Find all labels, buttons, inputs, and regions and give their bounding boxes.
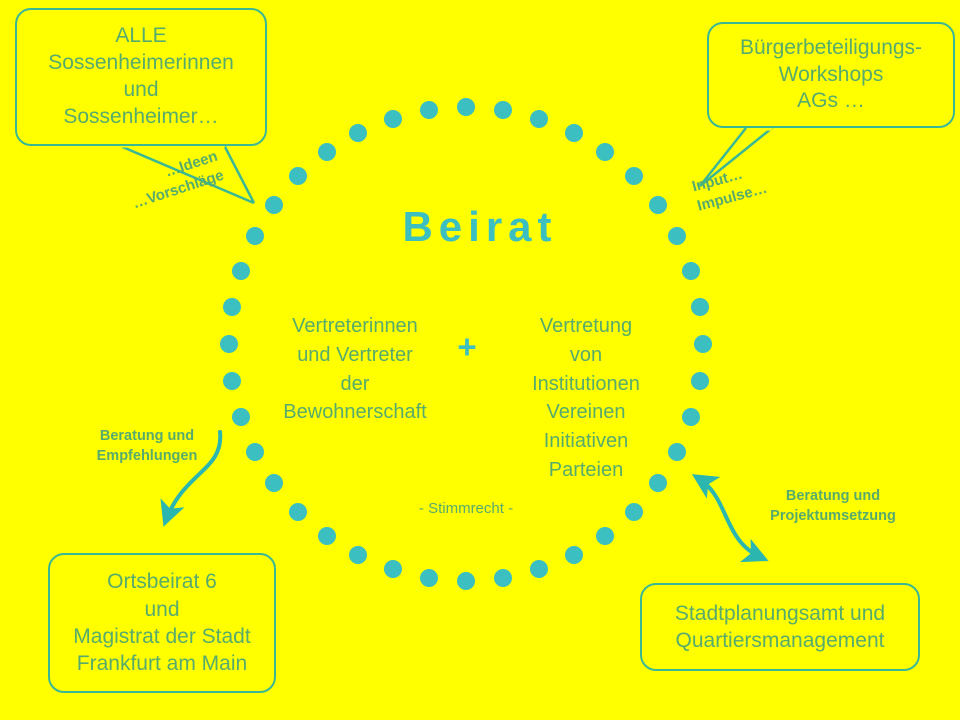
ring-dot <box>246 443 264 461</box>
text-line: Initiativen <box>496 427 676 456</box>
text-line: Projektumsetzung <box>748 507 918 527</box>
diagram-canvas: ALLESossenheimerinnenundSossenheimer… Bü… <box>0 0 960 720</box>
speech-bubble-residents: ALLESossenheimerinnenundSossenheimer… <box>15 8 267 146</box>
text-line: Magistrat der Stadt <box>73 623 250 650</box>
ring-dot <box>265 474 283 492</box>
ring-dot <box>494 569 512 587</box>
text-line: Frankfurt am Main <box>73 650 250 677</box>
ring-dot <box>682 408 700 426</box>
text-line: Vertreterinnen <box>265 312 445 341</box>
ring-dot <box>565 546 583 564</box>
diagram-title-beirat: Beirat <box>0 203 960 251</box>
box-ortsbeirat-magistrat: Ortsbeirat 6undMagistrat der StadtFrankf… <box>48 553 276 693</box>
ring-dot <box>691 298 709 316</box>
ring-dot <box>625 503 643 521</box>
center-column-institutions: VertretungvonInstitutionenVereinenInitia… <box>496 312 676 485</box>
text-line: Vereinen <box>496 398 676 427</box>
ring-dot <box>349 124 367 142</box>
box-stadtplanungsamt-quartiersmanagement-text: Stadtplanungsamt undQuartiersmanagement <box>675 600 885 655</box>
arrow-label-beratung-empfehlungen: Beratung undEmpfehlungen <box>72 427 222 466</box>
text-line: der <box>265 370 445 399</box>
speech-bubble-residents-text: ALLESossenheimerinnenundSossenheimer… <box>17 23 265 131</box>
text-line: AGs … <box>717 88 945 115</box>
text-line: Stadtplanungsamt und <box>675 600 885 627</box>
ring-dot <box>318 527 336 545</box>
ring-dot <box>232 408 250 426</box>
ring-dot <box>420 569 438 587</box>
box-stadtplanungsamt-quartiersmanagement: Stadtplanungsamt undQuartiersmanagement <box>640 583 920 671</box>
text-line: Empfehlungen <box>72 447 222 467</box>
ring-dot <box>682 262 700 280</box>
text-line: Ortsbeirat 6 <box>73 568 250 595</box>
ring-dot <box>625 167 643 185</box>
text-line: Sossenheimerinnen <box>25 50 257 77</box>
ring-dot <box>565 124 583 142</box>
center-footnote-stimmrecht: - Stimmrecht - <box>366 500 566 517</box>
text-line: Institutionen <box>496 370 676 399</box>
plus-icon: + <box>450 330 484 363</box>
ring-dot <box>457 98 475 116</box>
text-line: und <box>25 77 257 104</box>
ring-dot <box>349 546 367 564</box>
ring-dot <box>420 101 438 119</box>
ring-dot <box>223 372 241 390</box>
text-line: Beratung und <box>72 427 222 447</box>
text-line: von <box>496 341 676 370</box>
ring-dot <box>530 560 548 578</box>
ring-dot <box>384 110 402 128</box>
text-line: Beratung und <box>748 487 918 507</box>
ring-dot <box>223 298 241 316</box>
arrow-label-beratung-projektumsetzung: Beratung undProjektumsetzung <box>748 487 918 526</box>
ring-dot <box>457 572 475 590</box>
text-line: Parteien <box>496 456 676 485</box>
ring-dot <box>494 101 512 119</box>
text-line: Workshops <box>717 62 945 89</box>
ring-dot <box>318 143 336 161</box>
text-line: Bürgerbeteiligungs- <box>717 35 945 62</box>
ring-dot <box>289 167 307 185</box>
text-line: und Vertreter <box>265 341 445 370</box>
ring-dot <box>530 110 548 128</box>
ring-dot <box>384 560 402 578</box>
ring-dot <box>232 262 250 280</box>
ring-dot <box>596 527 614 545</box>
speech-bubble-workshops-text: Bürgerbeteiligungs-WorkshopsAGs … <box>709 35 953 116</box>
box-ortsbeirat-magistrat-text: Ortsbeirat 6undMagistrat der StadtFrankf… <box>73 568 250 677</box>
ring-dot <box>220 335 238 353</box>
speech-bubble-workshops: Bürgerbeteiligungs-WorkshopsAGs … <box>707 22 955 128</box>
text-line: Sossenheimer… <box>25 104 257 131</box>
text-line: Bewohnerschaft <box>265 398 445 427</box>
text-line: und <box>73 596 250 623</box>
center-column-residents: Vertreterinnenund VertreterderBewohnersc… <box>265 312 445 427</box>
ring-dot <box>691 372 709 390</box>
text-line: Vertretung <box>496 312 676 341</box>
text-line: Quartiersmanagement <box>675 627 885 654</box>
ring-dot <box>694 335 712 353</box>
text-line: ALLE <box>25 23 257 50</box>
ring-dot <box>289 503 307 521</box>
ring-dot <box>596 143 614 161</box>
